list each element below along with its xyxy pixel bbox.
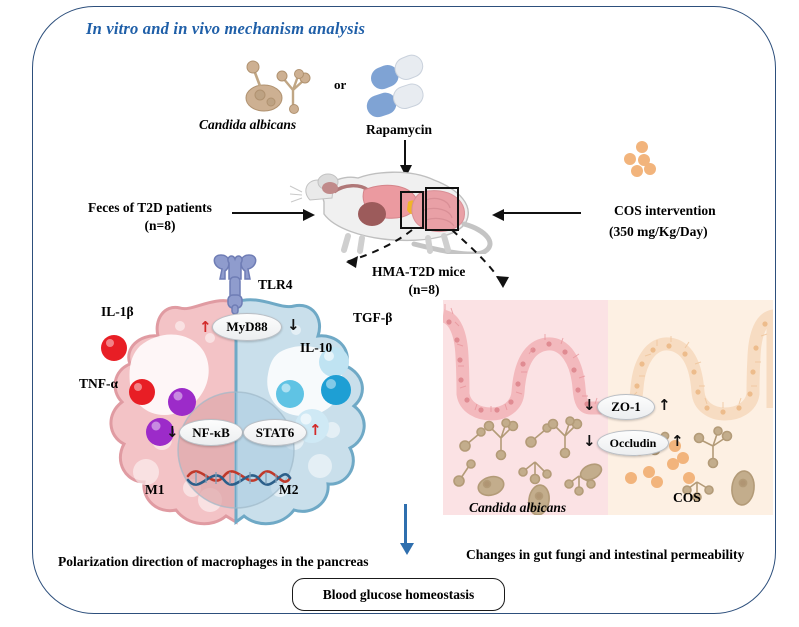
feces-label-line1: Feces of T2D patients: [88, 200, 212, 216]
occludin-node: Occludin: [597, 430, 669, 456]
stat6-node: STAT6: [243, 419, 307, 446]
tlr4-receptor-icon: [207, 253, 263, 315]
myd88-down-arrow: ↓: [287, 316, 300, 334]
gut-right-label: COS: [673, 490, 701, 506]
figure-title: In vitro and in vivo mechanism analysis: [86, 20, 365, 39]
feces-label-line2: (n=8): [88, 218, 232, 234]
candida-albicans-icon: [230, 58, 340, 120]
zo1-down-arrow: ↓: [583, 396, 596, 414]
il10-label: IL-10: [300, 340, 332, 356]
occludin-down-arrow: ↓: [583, 432, 596, 450]
nfkb-down-arrow: ↓: [166, 423, 179, 441]
nfkb-node: NF-κB: [179, 419, 243, 446]
cos-particles-icon: [620, 140, 664, 180]
candida-albicans-label: Candida albicans: [199, 117, 296, 133]
cos-label-line1: COS intervention: [614, 203, 716, 219]
myd88-up-arrow: ↑: [199, 318, 212, 336]
gut-caption: Changes in gut fungi and intestinal perm…: [466, 547, 744, 563]
or-label: or: [334, 78, 346, 93]
outcome-arrow: [404, 504, 407, 544]
cos-label-line2: (350 mg/Kg/Day): [609, 224, 708, 240]
tnfa-label: TNF-α: [79, 376, 118, 392]
feces-to-mouse-arrow: [232, 212, 304, 214]
zo1-node: ZO-1: [597, 394, 655, 420]
outcome-box: Blood glucose homeostasis: [292, 578, 505, 611]
m2-label: M2: [279, 482, 299, 498]
gut-left-label: Candida albicans: [469, 500, 566, 516]
tgfb-label: TGF-β: [353, 310, 392, 326]
m1-label: M1: [145, 482, 165, 498]
zo1-up-arrow: ↑: [658, 396, 671, 414]
il1b-label: IL-1β: [101, 304, 134, 320]
rapamycin-capsule-icon: [352, 52, 448, 120]
occludin-up-arrow: ↑: [671, 432, 684, 450]
myd88-node: MyD88: [212, 313, 282, 341]
hma-mice-label-line1: HMA-T2D mice: [372, 264, 465, 280]
cos-to-mouse-arrow: [503, 212, 581, 214]
rapamycin-label: Rapamycin: [366, 122, 432, 138]
figure-canvas: In vitro and in vivo mechanism analysis …: [0, 0, 799, 627]
stat6-up-arrow: ↑: [309, 421, 322, 439]
tlr4-label: TLR4: [258, 277, 293, 293]
macrophage-caption: Polarization direction of macrophages in…: [58, 554, 368, 570]
